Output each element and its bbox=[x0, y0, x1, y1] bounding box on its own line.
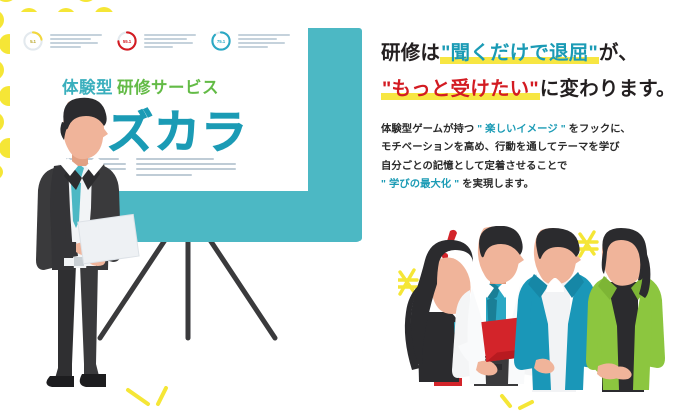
body-line-3: 自分ごとの記憶として定着させることで bbox=[381, 158, 693, 176]
gauge-unit-1: 5.1 bbox=[22, 30, 102, 52]
gauge-3-icon: 75.1 bbox=[210, 30, 232, 52]
gauge-1-value: 5.1 bbox=[22, 30, 44, 52]
gauge-unit-2: 55.1 bbox=[116, 30, 196, 52]
body-line-4: " 学びの最大化 " を実現します。 bbox=[381, 176, 693, 194]
headline-line-2: "もっと受けたい"に変わります。 bbox=[381, 80, 693, 100]
figure-woman-green bbox=[586, 228, 665, 392]
board-subtitle: 体験型研修サービス bbox=[62, 74, 219, 98]
gauge-1-ghost-lines bbox=[50, 34, 102, 49]
body-line-3-pre: 自分ごとの記憶として定着させることで bbox=[381, 161, 567, 172]
headline2-post: に変わります。 bbox=[540, 78, 676, 100]
hash-decor-right bbox=[577, 232, 597, 256]
headline-line-1: 研修は"聞くだけで退屈"が、 bbox=[381, 44, 693, 64]
gauge-row: 5.1 55.1 bbox=[22, 26, 302, 56]
group-figures bbox=[398, 226, 698, 412]
body-line-1: 体験型ゲームが持つ " 楽しいイメージ " をフックに、 bbox=[381, 121, 693, 139]
body-line-1-pre: 体験型ゲームが持つ bbox=[381, 124, 477, 135]
copy-block: 研修は"聞くだけで退屈"が、 "もっと受けたい"に変わります。 体験型ゲームが持… bbox=[381, 44, 693, 194]
body-line-2-pre: モチベーションを高め、行動を通してテーマを学び bbox=[381, 142, 620, 153]
body-line-2: モチベーションを高め、行動を通してテーマを学び bbox=[381, 139, 693, 157]
gauge-unit-3: 75.1 bbox=[210, 30, 290, 52]
body-line-1-accent: " 楽しいイメージ " bbox=[477, 124, 565, 135]
body-copy: 体験型ゲームが持つ " 楽しいイメージ " をフックに、 モチベーションを高め、… bbox=[381, 121, 693, 194]
headline1-pre: 研修は bbox=[381, 42, 440, 64]
headline2-quote: "もっと受けたい" bbox=[381, 78, 540, 100]
body-line-4-accent: " 学びの最大化 " bbox=[381, 179, 459, 190]
yellow-tick-decor bbox=[502, 396, 532, 408]
body-line-1-post: をフックに、 bbox=[566, 124, 631, 135]
presenter-figure bbox=[14, 96, 154, 396]
gauge-2-icon: 55.1 bbox=[116, 30, 138, 52]
gauge-2-ghost-lines bbox=[144, 34, 196, 49]
board-subtitle-a: 体験型 bbox=[62, 79, 113, 97]
headline1-post: が、 bbox=[599, 42, 638, 64]
gauge-2-value: 55.1 bbox=[116, 30, 138, 52]
gauge-1-icon: 5.1 bbox=[22, 30, 44, 52]
gauge-3-ghost-lines bbox=[238, 34, 290, 49]
gauge-3-value: 75.1 bbox=[210, 30, 232, 52]
figure-man-teal bbox=[514, 228, 600, 392]
headline1-quote: "聞くだけで退屈" bbox=[440, 42, 599, 64]
hash-decor-left bbox=[398, 270, 417, 294]
board-subtitle-b: 研修サービス bbox=[117, 79, 219, 97]
body-line-4-post: を実現します。 bbox=[459, 179, 534, 190]
hero-banner: 5.1 55.1 bbox=[0, 0, 700, 412]
